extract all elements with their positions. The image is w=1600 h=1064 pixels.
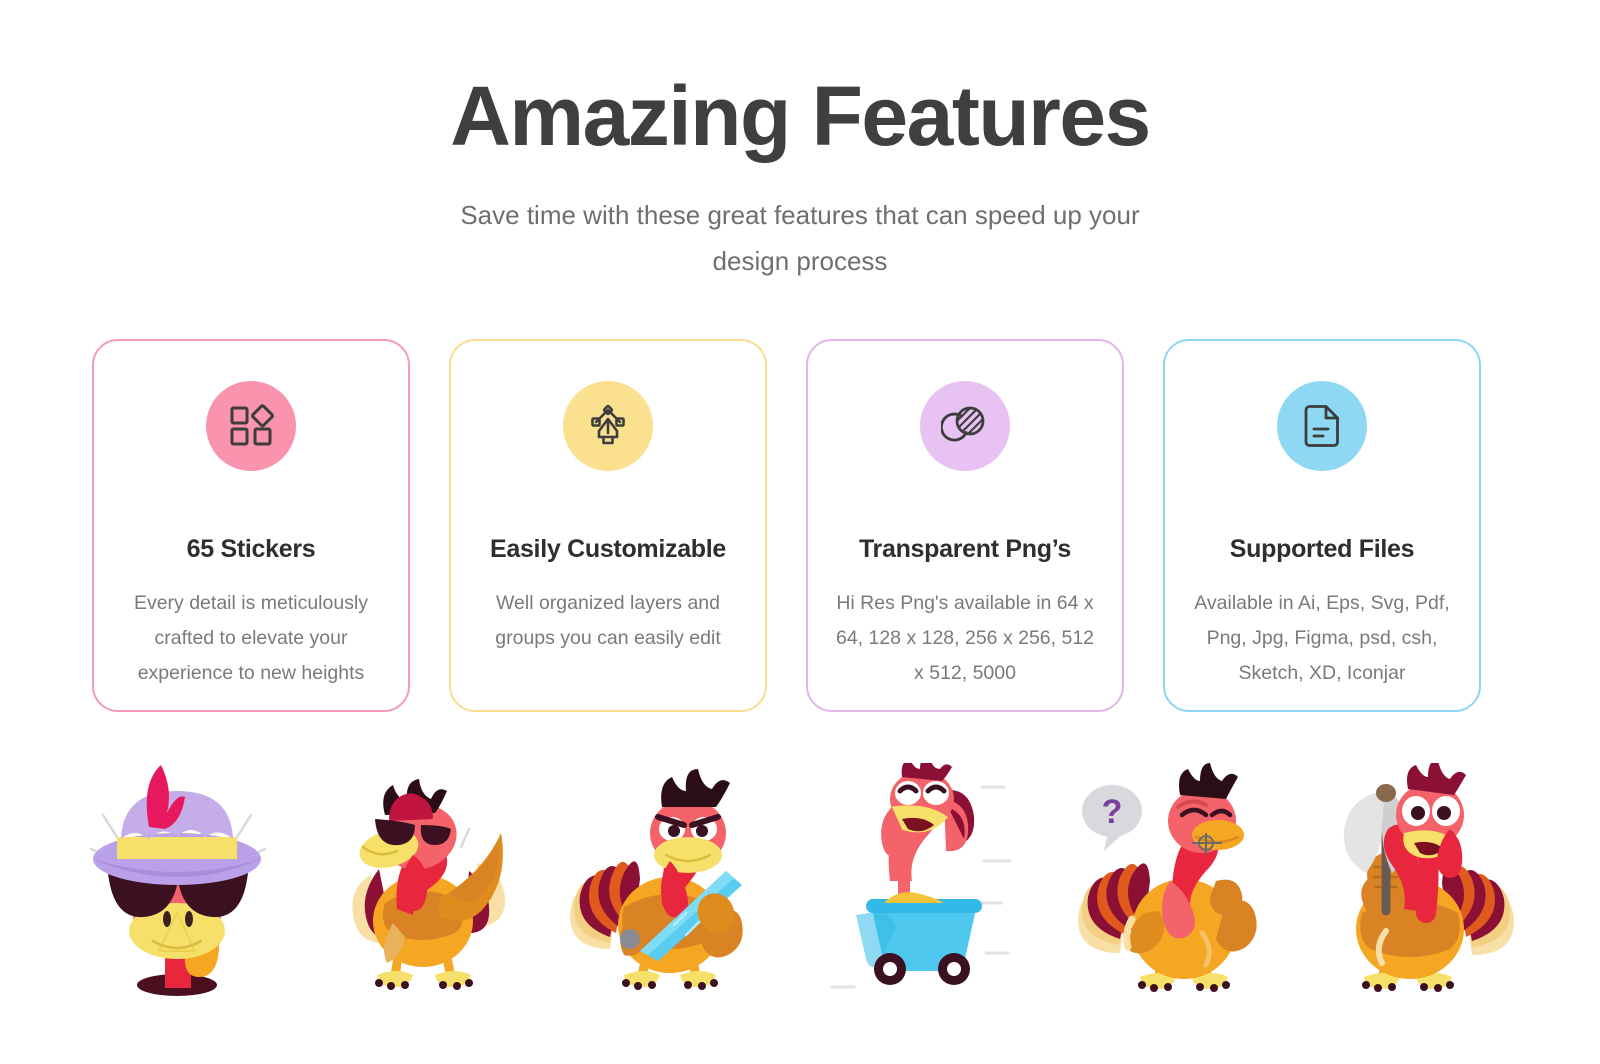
sticker-turkey-with-question-mark-bubble: ?: [1055, 758, 1291, 998]
feature-card-65-stickers[interactable]: 65 Stickers Every detail is meticulously…: [92, 339, 410, 712]
document-file-icon: [1277, 381, 1367, 471]
category-grid-icon: [206, 381, 296, 471]
sticker-turkey-holding-knife: [558, 758, 794, 998]
page-header: Amazing Features Save time with these gr…: [0, 0, 1600, 284]
svg-text:?: ?: [1101, 793, 1122, 831]
transparency-circles-icon: [920, 381, 1010, 471]
card-description: Hi Res Png's available in 64 x 64, 128 x…: [831, 586, 1099, 691]
card-description: Every detail is meticulously crafted to …: [117, 586, 385, 691]
feature-card-easily-customizable[interactable]: Easily Customizable Well organized layer…: [449, 339, 767, 712]
sticker-turkey-in-blue-cart: [806, 758, 1042, 998]
card-description: Available in Ai, Eps, Svg, Pdf, Png, Jpg…: [1188, 586, 1456, 691]
card-title: 65 Stickers: [187, 535, 316, 564]
card-title: Supported Files: [1230, 535, 1414, 564]
features-page: Amazing Features Save time with these gr…: [0, 0, 1600, 1064]
pen-tool-icon: [563, 381, 653, 471]
card-description: Well organized layers and groups you can…: [474, 586, 742, 656]
page-title: Amazing Features: [0, 74, 1600, 158]
feature-card-supported-files[interactable]: Supported Files Available in Ai, Eps, Sv…: [1163, 339, 1481, 712]
feature-card-transparent-pngs[interactable]: Transparent Png’s Hi Res Png's available…: [806, 339, 1124, 712]
page-subtitle: Save time with these great features that…: [420, 192, 1180, 284]
sticker-turkey-dabbing-with-sunglasses: [309, 758, 545, 998]
sticker-turkey-holding-axe: [1304, 758, 1540, 998]
card-title: Transparent Png’s: [859, 535, 1071, 564]
sticker-preview-row: ?: [60, 748, 1540, 998]
feature-cards-row: 65 Stickers Every detail is meticulously…: [92, 339, 1481, 712]
card-title: Easily Customizable: [490, 535, 726, 564]
sticker-turkey-with-purple-hat-and-sunglasses: [60, 758, 296, 998]
